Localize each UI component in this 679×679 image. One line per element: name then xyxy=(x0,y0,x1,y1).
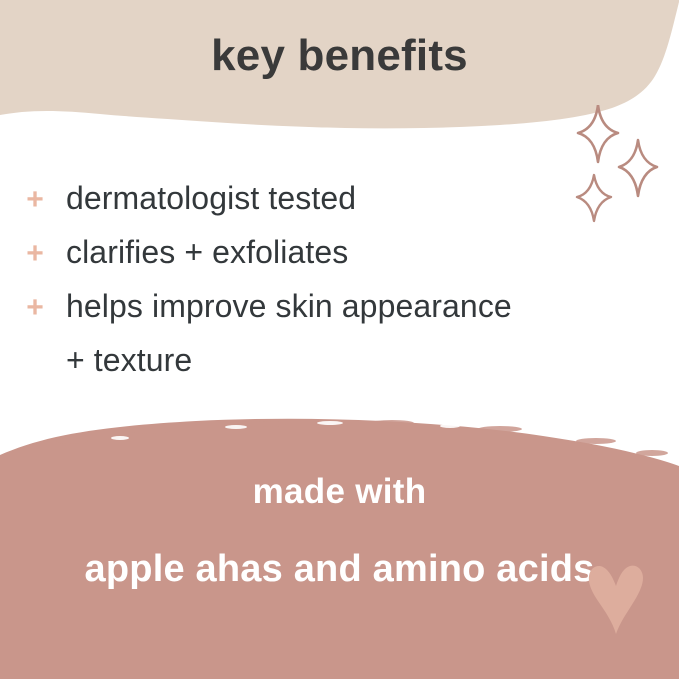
sparkle-large-icon xyxy=(578,105,618,162)
page-title: key benefits xyxy=(0,34,679,78)
made-with-label: made with xyxy=(0,474,679,509)
band-shape xyxy=(0,415,679,679)
benefit-label: + texture xyxy=(66,340,679,381)
benefit-item-continuation: + texture xyxy=(0,340,679,388)
benefit-label: helps improve skin appearance xyxy=(66,286,679,327)
benefits-list: + dermatologist tested + clarifies + exf… xyxy=(0,178,679,394)
ingredients-label: apple ahas and amino acids xyxy=(0,550,679,588)
product-benefits-graphic: key benefits + dermatologist tested + cl… xyxy=(0,0,679,679)
benefit-label: dermatologist tested xyxy=(66,178,679,219)
benefit-label: clarifies + exfoliates xyxy=(66,232,679,273)
benefit-item: + helps improve skin appearance xyxy=(0,286,679,334)
benefit-item: + dermatologist tested xyxy=(0,178,679,226)
heart-icon xyxy=(585,563,647,635)
plus-marker-icon: + xyxy=(0,185,66,215)
benefit-item: + clarifies + exfoliates xyxy=(0,232,679,280)
plus-marker-icon: + xyxy=(0,293,66,323)
plus-marker-icon: + xyxy=(0,239,66,269)
